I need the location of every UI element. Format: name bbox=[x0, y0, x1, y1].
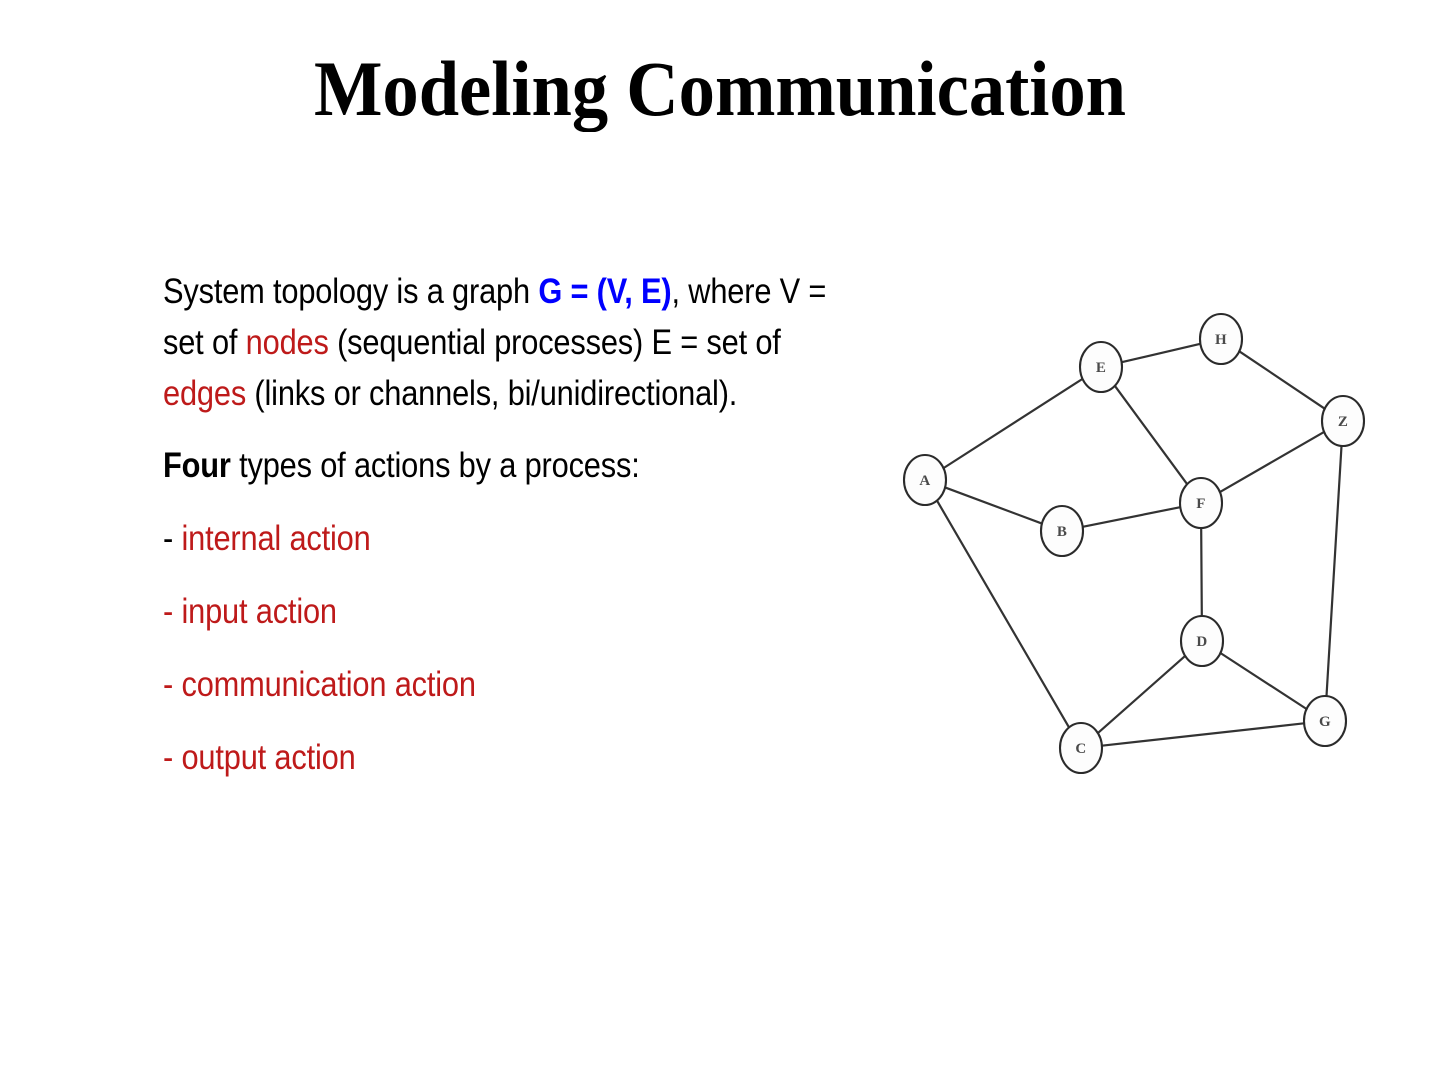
list-item-label: internal action bbox=[181, 519, 370, 558]
list-item-communication-action: - communication action bbox=[163, 659, 839, 710]
bullet-dash: - bbox=[163, 592, 181, 631]
bullet-dash: - bbox=[163, 665, 181, 704]
text-edges-keyword: edges bbox=[163, 374, 246, 413]
graph-edge-a-e bbox=[943, 379, 1082, 468]
graph-node-layer: ABCDEFGHZ bbox=[904, 314, 1364, 773]
graph-node-label: D bbox=[1196, 634, 1207, 650]
graph-edge-z-f bbox=[1220, 432, 1324, 492]
bullet-dash: - bbox=[163, 738, 181, 777]
paragraph-four-action-types: Four types of actions by a process: bbox=[163, 440, 839, 491]
graph-edge-e-f bbox=[1115, 386, 1187, 484]
graph-node-label: E bbox=[1096, 360, 1106, 376]
graph-node-label: B bbox=[1057, 524, 1067, 540]
graph-node-d: D bbox=[1181, 616, 1223, 666]
graph-node-label: F bbox=[1196, 496, 1205, 512]
graph-node-label: G bbox=[1319, 714, 1331, 730]
body-text-column: System topology is a graph G = (V, E), w… bbox=[163, 266, 843, 805]
graph-node-c: C bbox=[1060, 723, 1102, 773]
page-title: Modeling Communication bbox=[50, 48, 1389, 130]
graph-node-g: G bbox=[1304, 696, 1346, 746]
network-topology-graph-image: ABCDEFGHZ bbox=[885, 300, 1385, 790]
graph-edge-f-d bbox=[1201, 528, 1202, 616]
graph-node-label: Z bbox=[1338, 414, 1348, 430]
graph-node-b: B bbox=[1041, 506, 1083, 556]
graph-edge-z-g bbox=[1326, 446, 1341, 696]
list-item-label: output action bbox=[181, 738, 355, 777]
list-item-output-action: - output action bbox=[163, 732, 839, 783]
graph-node-z: Z bbox=[1322, 396, 1364, 446]
graph-node-e: E bbox=[1080, 342, 1122, 392]
graph-edge-h-z bbox=[1239, 351, 1324, 408]
graph-edge-a-b bbox=[945, 487, 1042, 523]
graph-edge-e-h bbox=[1122, 344, 1201, 362]
text-four-emphasis: Four bbox=[163, 446, 231, 485]
graph-node-a: A bbox=[904, 455, 946, 505]
list-item-label: communication action bbox=[181, 665, 475, 704]
graph-edge-d-g bbox=[1220, 653, 1306, 709]
text-segment-1: System topology is a graph bbox=[163, 272, 538, 311]
text-segment-5: (sequential processes) E = set of bbox=[329, 323, 781, 362]
graph-edge-c-g bbox=[1102, 723, 1304, 745]
graph-edge-layer bbox=[937, 344, 1342, 746]
text-graph-notation: G = (V, E) bbox=[538, 272, 671, 311]
graph-node-f: F bbox=[1180, 478, 1222, 528]
graph-node-label: A bbox=[919, 473, 930, 489]
text-segment-7: (links or channels, bi/unidirectional). bbox=[246, 374, 737, 413]
graph-node-label: C bbox=[1075, 741, 1086, 757]
text-four-rest: types of actions by a process: bbox=[231, 446, 640, 485]
list-item-label: input action bbox=[181, 592, 336, 631]
bullet-dash: - bbox=[163, 519, 181, 558]
paragraph-topology-definition: System topology is a graph G = (V, E), w… bbox=[163, 266, 839, 419]
text-nodes-keyword: nodes bbox=[246, 323, 329, 362]
graph-node-h: H bbox=[1200, 314, 1242, 364]
graph-edge-d-c bbox=[1098, 656, 1185, 733]
list-item-internal-action: - internal action bbox=[163, 513, 839, 564]
list-item-input-action: - input action bbox=[163, 586, 839, 637]
graph-node-label: H bbox=[1215, 332, 1227, 348]
graph-edge-b-f bbox=[1083, 507, 1181, 527]
graph-svg: ABCDEFGHZ bbox=[885, 300, 1385, 790]
